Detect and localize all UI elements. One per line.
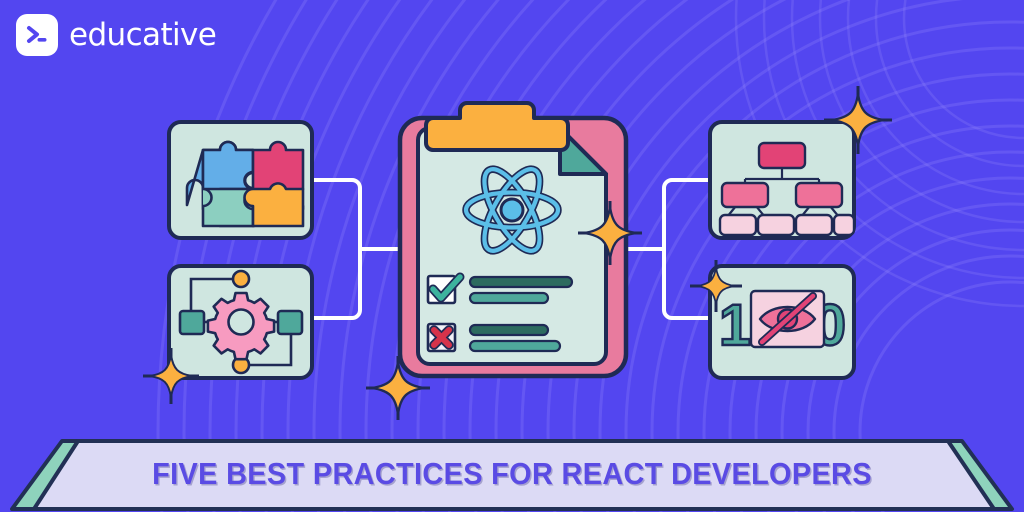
checklist-line-2a <box>470 325 548 335</box>
react-checklist-clipboard <box>400 103 626 376</box>
tree-node-leaf-3 <box>796 215 832 235</box>
brand-name: educative <box>69 20 216 51</box>
hidden-data-card: 1 0 <box>710 266 854 378</box>
tree-node-branch-right <box>796 183 842 207</box>
poster-artwork: 1 0 <box>0 0 1024 512</box>
tree-node-branch-left <box>722 183 768 207</box>
tree-node-leaf-1 <box>720 215 756 235</box>
banner-fill-shape <box>34 441 994 509</box>
tree-node-root <box>759 143 805 168</box>
gear-node-right <box>278 311 302 334</box>
tree-node-leaf-4 <box>834 215 854 235</box>
binary-digit-one: 1 <box>719 293 751 358</box>
gear-node-top <box>233 271 249 287</box>
checklist-line-1a <box>470 277 572 287</box>
cross-icon <box>434 330 449 345</box>
puzzle-piece-orange <box>245 183 304 226</box>
hierarchy-tree-card <box>710 122 854 238</box>
gear-node-left <box>180 311 204 334</box>
terminal-prompt-icon <box>16 14 58 56</box>
gear-icon <box>208 293 274 359</box>
title-banner <box>12 441 1012 509</box>
checklist-line-2b <box>470 341 560 351</box>
poster-canvas: 1 0 <box>0 0 1024 512</box>
puzzle-pieces-card <box>169 122 312 238</box>
gear-workflow-card <box>169 266 312 378</box>
checklist-line-1b <box>470 293 548 303</box>
brand-logo[interactable]: educative <box>16 14 216 56</box>
puzzle-pieces-group <box>187 142 303 226</box>
tree-node-leaf-2 <box>758 215 794 235</box>
